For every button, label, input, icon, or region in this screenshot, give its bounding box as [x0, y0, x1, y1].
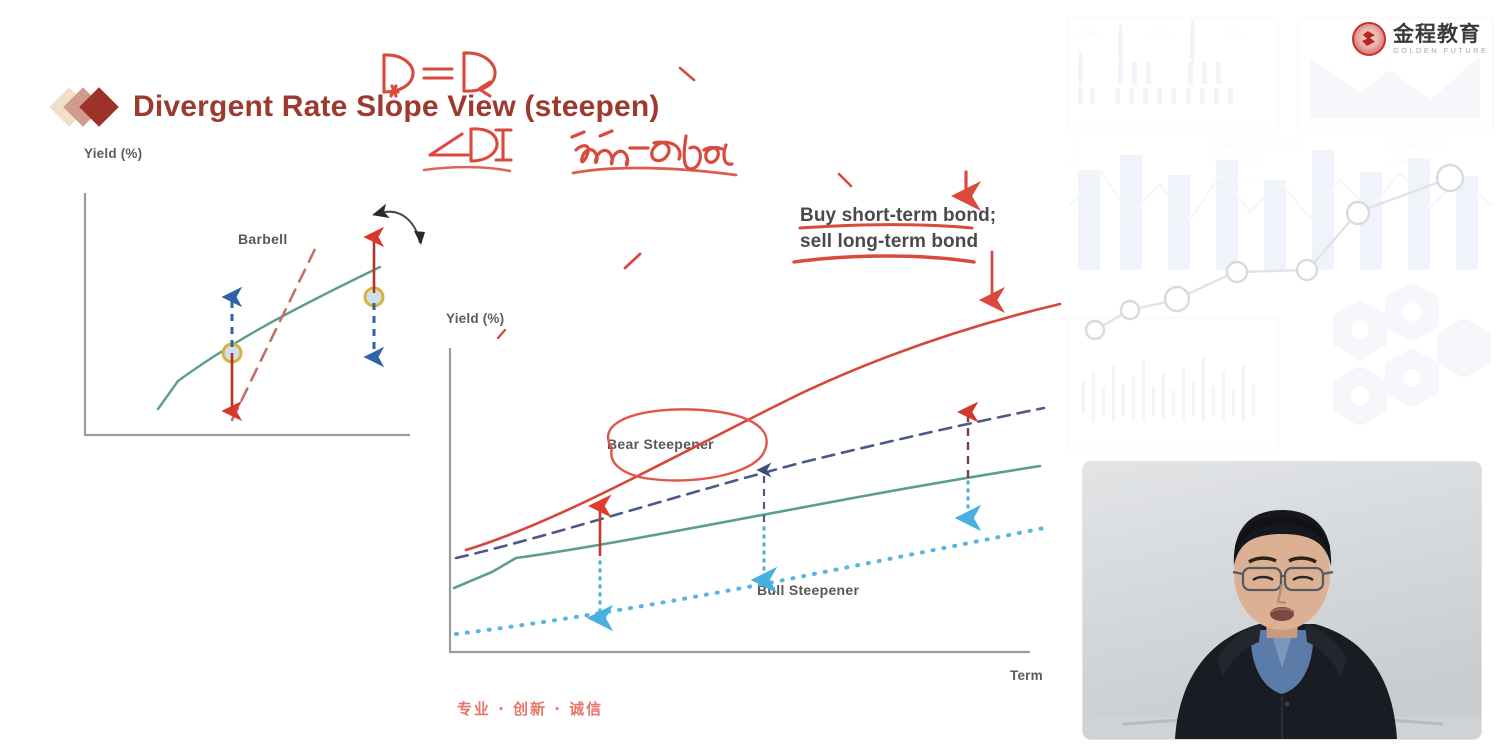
trade-annotation-line1: Buy short-term bond;: [800, 203, 996, 229]
trade-annotation: Buy short-term bond; sell long-term bond: [800, 203, 996, 255]
chart-main-bull-dotted-line: [456, 528, 1044, 634]
ink-note-index-based: [572, 131, 736, 175]
brand-name-en: GOLDEN FUTURE: [1393, 47, 1488, 55]
chart-top-axes: [85, 193, 410, 435]
diamond-bullet-icon: [55, 85, 133, 129]
svg-text:27%: 27%: [1150, 28, 1171, 38]
webcam-video[interactable]: [1083, 462, 1481, 739]
chart-steepener: [444, 300, 1064, 665]
chart-top-y-axis-label: Yield (%): [84, 146, 142, 161]
background-infographic-svg: 业绩 COMMUNICATIONPROCESSANALYSIS STRATEGY…: [1060, 0, 1500, 470]
svg-text:MARKET: MARKET: [1390, 157, 1434, 167]
svg-text:PROCESS: PROCESS: [1210, 157, 1261, 167]
brand-text: 金程教育 GOLDEN FUTURE: [1393, 24, 1488, 55]
svg-text:ANALYSIS: ANALYSIS: [1210, 174, 1261, 184]
brand-logo: 金程教育 GOLDEN FUTURE: [1352, 22, 1488, 56]
ink-tick-curve: [625, 254, 640, 268]
svg-text:COMMUNICATION: COMMUNICATION: [1210, 140, 1300, 150]
chart-top-base-curve: [158, 267, 380, 409]
chart-main-x-axis-label: Term: [1010, 668, 1043, 683]
page-title: Divergent Rate Slope View (steepen): [133, 90, 660, 124]
webcam-frame: [1083, 462, 1481, 739]
chart-main-reference-dashed-line: [456, 408, 1044, 558]
brand-name-cn: 金程教育: [1393, 24, 1488, 45]
curved-double-arrow-icon: [380, 212, 420, 243]
ink-note-angle-di: [424, 129, 511, 171]
trade-annotation-line2: sell long-term bond: [800, 229, 996, 255]
chart-barbell: [80, 185, 440, 450]
svg-text:STRATEGY: STRATEGY: [1390, 140, 1446, 150]
background-infographic-panel: 业绩 COMMUNICATIONPROCESSANALYSIS STRATEGY…: [1060, 0, 1500, 470]
chart-main-axes: [450, 348, 1030, 652]
bear-steepener-ink-circle: [608, 409, 767, 480]
chart-main-bear-line: [466, 304, 1060, 550]
svg-text:绩: 绩: [1070, 156, 1080, 167]
chart-barbell-svg: [80, 185, 440, 450]
chart-top-steepened-line: [232, 247, 316, 420]
svg-text:33%: 33%: [1225, 28, 1246, 38]
ink-underline-sell: [794, 256, 974, 262]
svg-text:40%: 40%: [1078, 28, 1099, 38]
svg-text:业: 业: [1070, 140, 1080, 150]
slide-title-row: Divergent Rate Slope View (steepen): [55, 85, 660, 129]
chart-steepener-svg: [444, 300, 1064, 665]
footer-slogan: 专业 · 创新 · 诚信: [0, 698, 1060, 719]
seal-icon: [1352, 22, 1386, 56]
ink-tick-title: [680, 68, 694, 80]
ink-tick-annotation: [839, 174, 851, 186]
chart-main-current-curve: [454, 466, 1040, 588]
slide-stage: 业绩 COMMUNICATIONPROCESSANALYSIS STRATEGY…: [0, 0, 1500, 750]
